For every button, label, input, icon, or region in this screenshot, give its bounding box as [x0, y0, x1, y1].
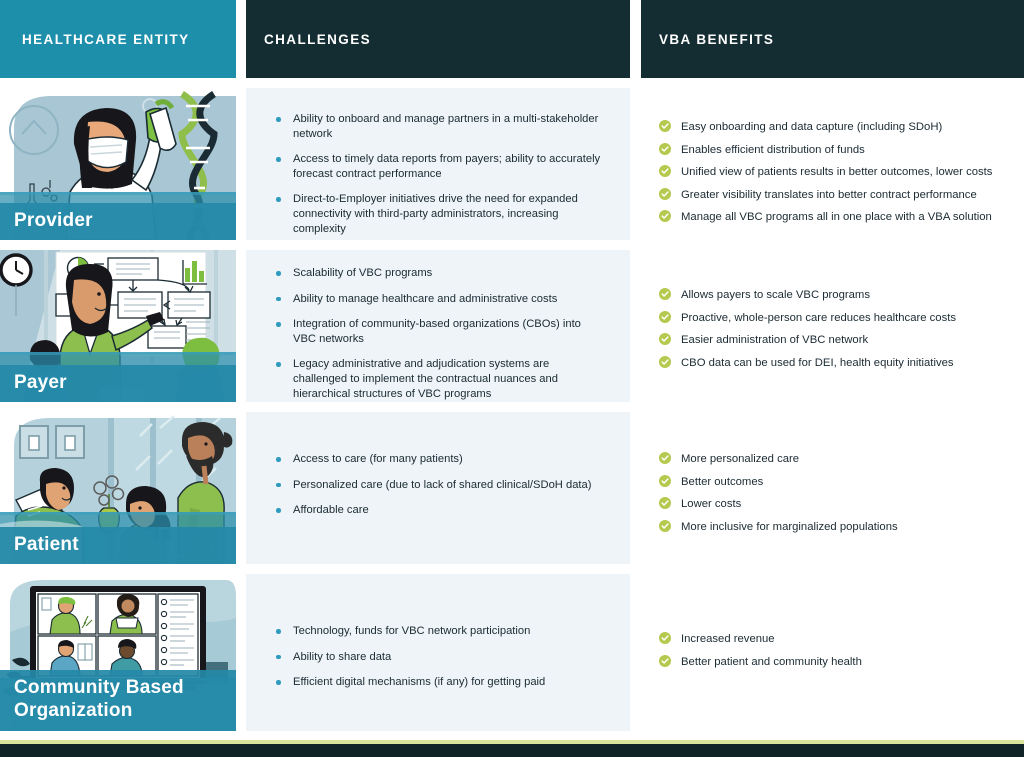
- footer-bar: [0, 744, 1024, 757]
- column-header-benefits-label: VBA BENEFITS: [641, 32, 774, 47]
- entity-caption-payer: Payer: [0, 365, 236, 402]
- list-item: Access to care (for many patients): [276, 452, 604, 467]
- list-item-label: Better patient and community health: [681, 656, 862, 668]
- list-item: Direct-to-Employer initiatives drive the…: [276, 192, 604, 236]
- list-item-label: Easy onboarding and data capture (includ…: [681, 121, 942, 133]
- list-item-label: Allows payers to scale VBC programs: [681, 289, 870, 301]
- challenges-cell-payer: Scalability of VBC programs Ability to m…: [246, 250, 630, 402]
- check-circle-icon: [659, 311, 671, 323]
- list-item: Affordable care: [276, 503, 604, 518]
- entity-caption-cbo: Community Based Organization: [0, 670, 236, 731]
- column-header-vba-benefits: VBA BENEFITS: [641, 0, 1024, 78]
- check-circle-icon: [659, 632, 671, 644]
- check-circle-icon: [659, 655, 671, 667]
- list-item: Ability to onboard and manage partners i…: [276, 112, 604, 141]
- list-item: Easy onboarding and data capture (includ…: [659, 120, 1004, 134]
- check-circle-icon: [659, 210, 671, 222]
- list-item-label: Increased revenue: [681, 633, 775, 645]
- list-item-label: Easier administration of VBC network: [681, 334, 868, 346]
- list-item: Personalized care (due to lack of shared…: [276, 478, 604, 493]
- list-item: Technology, funds for VBC network partic…: [276, 624, 604, 639]
- challenges-cell-patient: Access to care (for many patients) Perso…: [246, 412, 630, 564]
- column-header-healthcare-entity: HEALTHCARE ENTITY: [0, 0, 236, 78]
- list-item: Proactive, whole-person care reduces hea…: [659, 311, 1004, 325]
- challenges-list-cbo: Technology, funds for VBC network partic…: [246, 624, 630, 690]
- list-item-label: Better outcomes: [681, 476, 763, 488]
- list-item: Access to timely data reports from payer…: [276, 152, 604, 181]
- list-item: Ability to manage healthcare and adminis…: [276, 292, 604, 307]
- check-circle-icon: [659, 120, 671, 132]
- list-item: Increased revenue: [659, 632, 1004, 646]
- benefits-cell-cbo: Increased revenue Better patient and com…: [641, 574, 1024, 731]
- entity-panel-patient: Patient: [0, 412, 236, 564]
- benefits-list-patient: More personalized care Better outcomes L…: [641, 452, 1024, 534]
- list-item: Allows payers to scale VBC programs: [659, 288, 1004, 302]
- list-item: Integration of community-based organizat…: [276, 317, 604, 346]
- benefits-cell-payer: Allows payers to scale VBC programs Proa…: [641, 250, 1024, 402]
- check-circle-icon: [659, 475, 671, 487]
- list-item: Legacy administrative and adjudication s…: [276, 357, 604, 401]
- entity-panel-cbo: Community Based Organization: [0, 574, 236, 731]
- check-circle-icon: [659, 188, 671, 200]
- check-circle-icon: [659, 165, 671, 177]
- check-circle-icon: [659, 288, 671, 300]
- list-item-label: Manage all VBC programs all in one place…: [681, 211, 992, 223]
- entity-caption-patient: Patient: [0, 527, 236, 564]
- list-item: More inclusive for marginalized populati…: [659, 520, 1004, 534]
- list-item-label: More personalized care: [681, 453, 799, 465]
- list-item-label: More inclusive for marginalized populati…: [681, 521, 898, 533]
- check-circle-icon: [659, 452, 671, 464]
- list-item: Enables efficient distribution of funds: [659, 143, 1004, 157]
- list-item: Better outcomes: [659, 475, 1004, 489]
- column-header-challenges: CHALLENGES: [246, 0, 630, 78]
- check-circle-icon: [659, 143, 671, 155]
- benefits-cell-patient: More personalized care Better outcomes L…: [641, 412, 1024, 564]
- entity-panel-provider: Provider: [0, 88, 236, 240]
- list-item: Manage all VBC programs all in one place…: [659, 210, 1004, 224]
- challenges-list-payer: Scalability of VBC programs Ability to m…: [246, 266, 630, 401]
- list-item-label: Unified view of patients results in bett…: [681, 166, 992, 178]
- check-circle-icon: [659, 520, 671, 532]
- check-circle-icon: [659, 333, 671, 345]
- column-header-entity-label: HEALTHCARE ENTITY: [0, 32, 190, 47]
- entity-caption-provider: Provider: [0, 203, 236, 240]
- list-item: Easier administration of VBC network: [659, 333, 1004, 347]
- check-circle-icon: [659, 497, 671, 509]
- benefits-list-cbo: Increased revenue Better patient and com…: [641, 632, 1024, 669]
- list-item-label: Proactive, whole-person care reduces hea…: [681, 312, 956, 324]
- list-item: CBO data can be used for DEI, health equ…: [659, 356, 1004, 370]
- benefits-list-provider: Easy onboarding and data capture (includ…: [641, 120, 1024, 224]
- check-circle-icon: [659, 356, 671, 368]
- challenges-cell-cbo: Technology, funds for VBC network partic…: [246, 574, 630, 731]
- list-item: More personalized care: [659, 452, 1004, 466]
- list-item: Lower costs: [659, 497, 1004, 511]
- list-item-label: Lower costs: [681, 498, 741, 510]
- challenges-cell-provider: Ability to onboard and manage partners i…: [246, 88, 630, 240]
- list-item-label: Enables efficient distribution of funds: [681, 144, 865, 156]
- benefits-cell-provider: Easy onboarding and data capture (includ…: [641, 88, 1024, 240]
- list-item-label: CBO data can be used for DEI, health equ…: [681, 357, 954, 369]
- entity-panel-payer: Payer: [0, 250, 236, 402]
- challenges-list-patient: Access to care (for many patients) Perso…: [246, 452, 630, 518]
- challenges-list-provider: Ability to onboard and manage partners i…: [246, 112, 630, 236]
- vba-comparison-table: HEALTHCARE ENTITY CHALLENGES VBA BENEFIT…: [0, 0, 1024, 757]
- list-item: Better patient and community health: [659, 655, 1004, 669]
- list-item: Scalability of VBC programs: [276, 266, 604, 281]
- benefits-list-payer: Allows payers to scale VBC programs Proa…: [641, 288, 1024, 370]
- list-item: Ability to share data: [276, 650, 604, 665]
- list-item: Greater visibility translates into bette…: [659, 188, 1004, 202]
- list-item-label: Greater visibility translates into bette…: [681, 189, 977, 201]
- list-item: Unified view of patients results in bett…: [659, 165, 1004, 179]
- list-item: Efficient digital mechanisms (if any) fo…: [276, 675, 604, 690]
- column-header-challenges-label: CHALLENGES: [246, 32, 371, 47]
